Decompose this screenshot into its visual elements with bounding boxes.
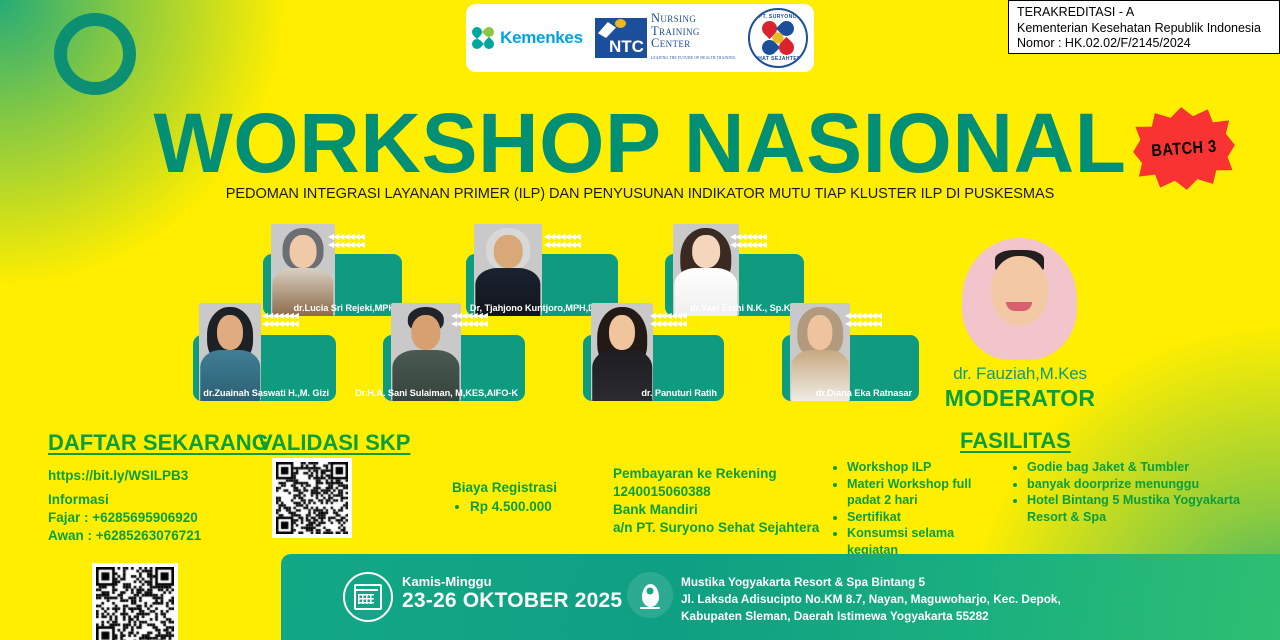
validation-heading: VALIDASI SKP: [258, 430, 410, 456]
fee-amount: Rp 4.500.000: [470, 497, 557, 516]
ntc-tagline: LEADING THE FUTURE OF HEALTH TRAINING: [651, 52, 736, 65]
calendar-icon: [343, 572, 393, 622]
ntc-wordmark: Nursing Training Center LEADING THE FUTU…: [651, 12, 736, 64]
logo-bar: Kemenkes NTC Nursing Training Center LEA…: [466, 4, 814, 72]
facilities-list-right: Godie bag Jaket & Tumbler banyak doorpri…: [1012, 459, 1280, 525]
qr-code-pendaftaran[interactable]: [92, 563, 178, 640]
facility-item: Hotel Bintang 5 Mustika Yogyakarta Resor…: [1027, 492, 1280, 525]
contact-awan: Awan : +6285263076721: [48, 527, 201, 545]
decorative-ring-top-left: [54, 13, 136, 95]
ntc-line-1: Nursing: [651, 12, 736, 25]
event-details-banner: Kamis-Minggu 23-26 OKTOBER 2025 Mustika …: [281, 554, 1280, 640]
suryono-pinwheel-icon: [761, 21, 795, 55]
facility-item: Sertifikat: [847, 509, 1002, 526]
facilities-list-left: Workshop ILP Materi Workshop full padat …: [832, 459, 1002, 558]
ntc-abbr: NTC: [609, 37, 644, 57]
moderator-role: MODERATOR: [940, 385, 1100, 412]
venue-line-3: Kabupaten Sleman, Daerah Istimewa Yogyak…: [681, 608, 1061, 625]
registration-url[interactable]: https://bit.ly/WSILPB3: [48, 468, 188, 483]
location-pin-icon: [627, 572, 673, 618]
chevron-pattern-icon: ◀◀◀◀◀◀◀◀◀◀◀◀◀◀: [328, 233, 390, 250]
chevron-pattern-icon: ◀◀◀◀◀◀◀◀◀◀◀◀◀◀: [262, 312, 324, 329]
poster-canvas: TERAKREDITASI - A Kementerian Kesehatan …: [0, 0, 1280, 640]
suryono-bottom-text: SEHAT SEJAHTERA: [750, 56, 806, 62]
page-title: WORKSHOP NASIONAL: [0, 101, 1280, 185]
payment-bank: Bank Mandiri: [613, 501, 819, 519]
payment-account-number: 1240015060388: [613, 483, 819, 501]
ntc-logo: NTC Nursing Training Center LEADING THE …: [595, 12, 736, 64]
moderator-block: dr. Fauziah,M.Kes MODERATOR: [940, 232, 1100, 412]
speaker-card: ◀◀◀◀◀◀◀◀◀◀◀◀◀◀ dr.Zuainah Saswati H.,M. …: [193, 303, 336, 401]
suryono-logo: PT. SURYONO SEHAT SEJAHTERA: [748, 8, 808, 68]
speaker-name: dr.Diana Eka Ratnasar: [816, 388, 912, 398]
contact-info-block: Informasi Fajar : +6285695906920 Awan : …: [48, 491, 201, 545]
kemenkes-label: Kemenkes: [500, 28, 583, 48]
kemenkes-logo: Kemenkes: [472, 27, 583, 49]
payment-account-name: a/n PT. Suryono Sehat Sejahtera: [613, 519, 819, 537]
venue-line-2: Jl. Laksda Adisucipto No.KM 8.7, Nayan, …: [681, 591, 1061, 608]
facilities-heading: FASILITAS: [960, 428, 1071, 454]
event-day: Kamis-Minggu: [402, 574, 492, 589]
kemenkes-flower-icon: [472, 27, 494, 49]
payment-line-1: Pembayaran ke Rekening: [613, 465, 819, 483]
facility-item: Workshop ILP: [847, 459, 1002, 476]
ntc-mark-icon: NTC: [595, 18, 647, 58]
speaker-card: ◀◀◀◀◀◀◀◀◀◀◀◀◀◀ Dr.H.A. Sani Sulaiman, M,…: [383, 303, 525, 401]
event-venue: Mustika Yogyakarta Resort & Spa Bintang …: [681, 574, 1061, 625]
speaker-portrait: [199, 303, 261, 401]
moderator-portrait: [962, 232, 1077, 360]
facility-item: banyak doorprize menunggu: [1027, 476, 1280, 493]
contact-fajar: Fajar : +6285695906920: [48, 509, 201, 527]
chevron-pattern-icon: ◀◀◀◀◀◀◀◀◀◀◀◀◀◀: [544, 233, 606, 250]
contact-info-label: Informasi: [48, 491, 201, 509]
page-subtitle: PEDOMAN INTEGRASI LAYANAN PRIMER (ILP) D…: [0, 185, 1280, 203]
venue-line-1: Mustika Yogyakarta Resort & Spa Bintang …: [681, 574, 1061, 591]
event-date: 23-26 OKTOBER 2025: [402, 589, 622, 613]
ntc-line-3: Center: [651, 37, 736, 50]
facility-item: Materi Workshop full padat 2 hari: [847, 476, 1002, 509]
fee-label: Biaya Registrasi: [452, 478, 557, 497]
moderator-name: dr. Fauziah,M.Kes: [940, 364, 1100, 384]
speaker-name: dr.Zuainah Saswati H.,M. Gizi: [203, 388, 329, 398]
chevron-pattern-icon: ◀◀◀◀◀◀◀◀◀◀◀◀◀◀: [451, 312, 513, 329]
registration-fee-block: Biaya Registrasi Rp 4.500.000: [452, 478, 557, 516]
payment-block: Pembayaran ke Rekening 1240015060388 Ban…: [613, 465, 819, 537]
accreditation-box: TERAKREDITASI - A Kementerian Kesehatan …: [1008, 0, 1280, 54]
batch-badge-label: BATCH 3: [1151, 136, 1218, 161]
qr-code-validasi-skp[interactable]: [272, 458, 352, 538]
facility-item: Godie bag Jaket & Tumbler: [1027, 459, 1280, 476]
suryono-top-text: PT. SURYONO: [750, 14, 806, 20]
speaker-card: ◀◀◀◀◀◀◀◀◀◀◀◀◀◀ dr.Diana Eka Ratnasar: [782, 303, 919, 401]
chevron-pattern-icon: ◀◀◀◀◀◀◀◀◀◀◀◀◀◀: [845, 312, 907, 329]
chevron-pattern-icon: ◀◀◀◀◀◀◀◀◀◀◀◀◀◀: [730, 233, 792, 250]
speaker-name: dr. Panuturi Ratih: [641, 388, 717, 398]
speaker-portrait: [591, 303, 653, 401]
accreditation-line-1: TERAKREDITASI - A: [1017, 5, 1273, 21]
registration-heading: DAFTAR SEKARANG: [48, 430, 269, 456]
speaker-name: Dr.H.A. Sani Sulaiman, M,KES,AIFO-K: [355, 388, 518, 398]
chevron-pattern-icon: ◀◀◀◀◀◀◀◀◀◀◀◀◀◀: [650, 312, 712, 329]
speaker-card: ◀◀◀◀◀◀◀◀◀◀◀◀◀◀ dr. Panuturi Ratih: [583, 303, 724, 401]
accreditation-line-3: Nomor : HK.02.02/F/2145/2024: [1017, 36, 1273, 52]
speaker-portrait: [790, 303, 850, 401]
accreditation-line-2: Kementerian Kesehatan Republik Indonesia: [1017, 21, 1273, 37]
